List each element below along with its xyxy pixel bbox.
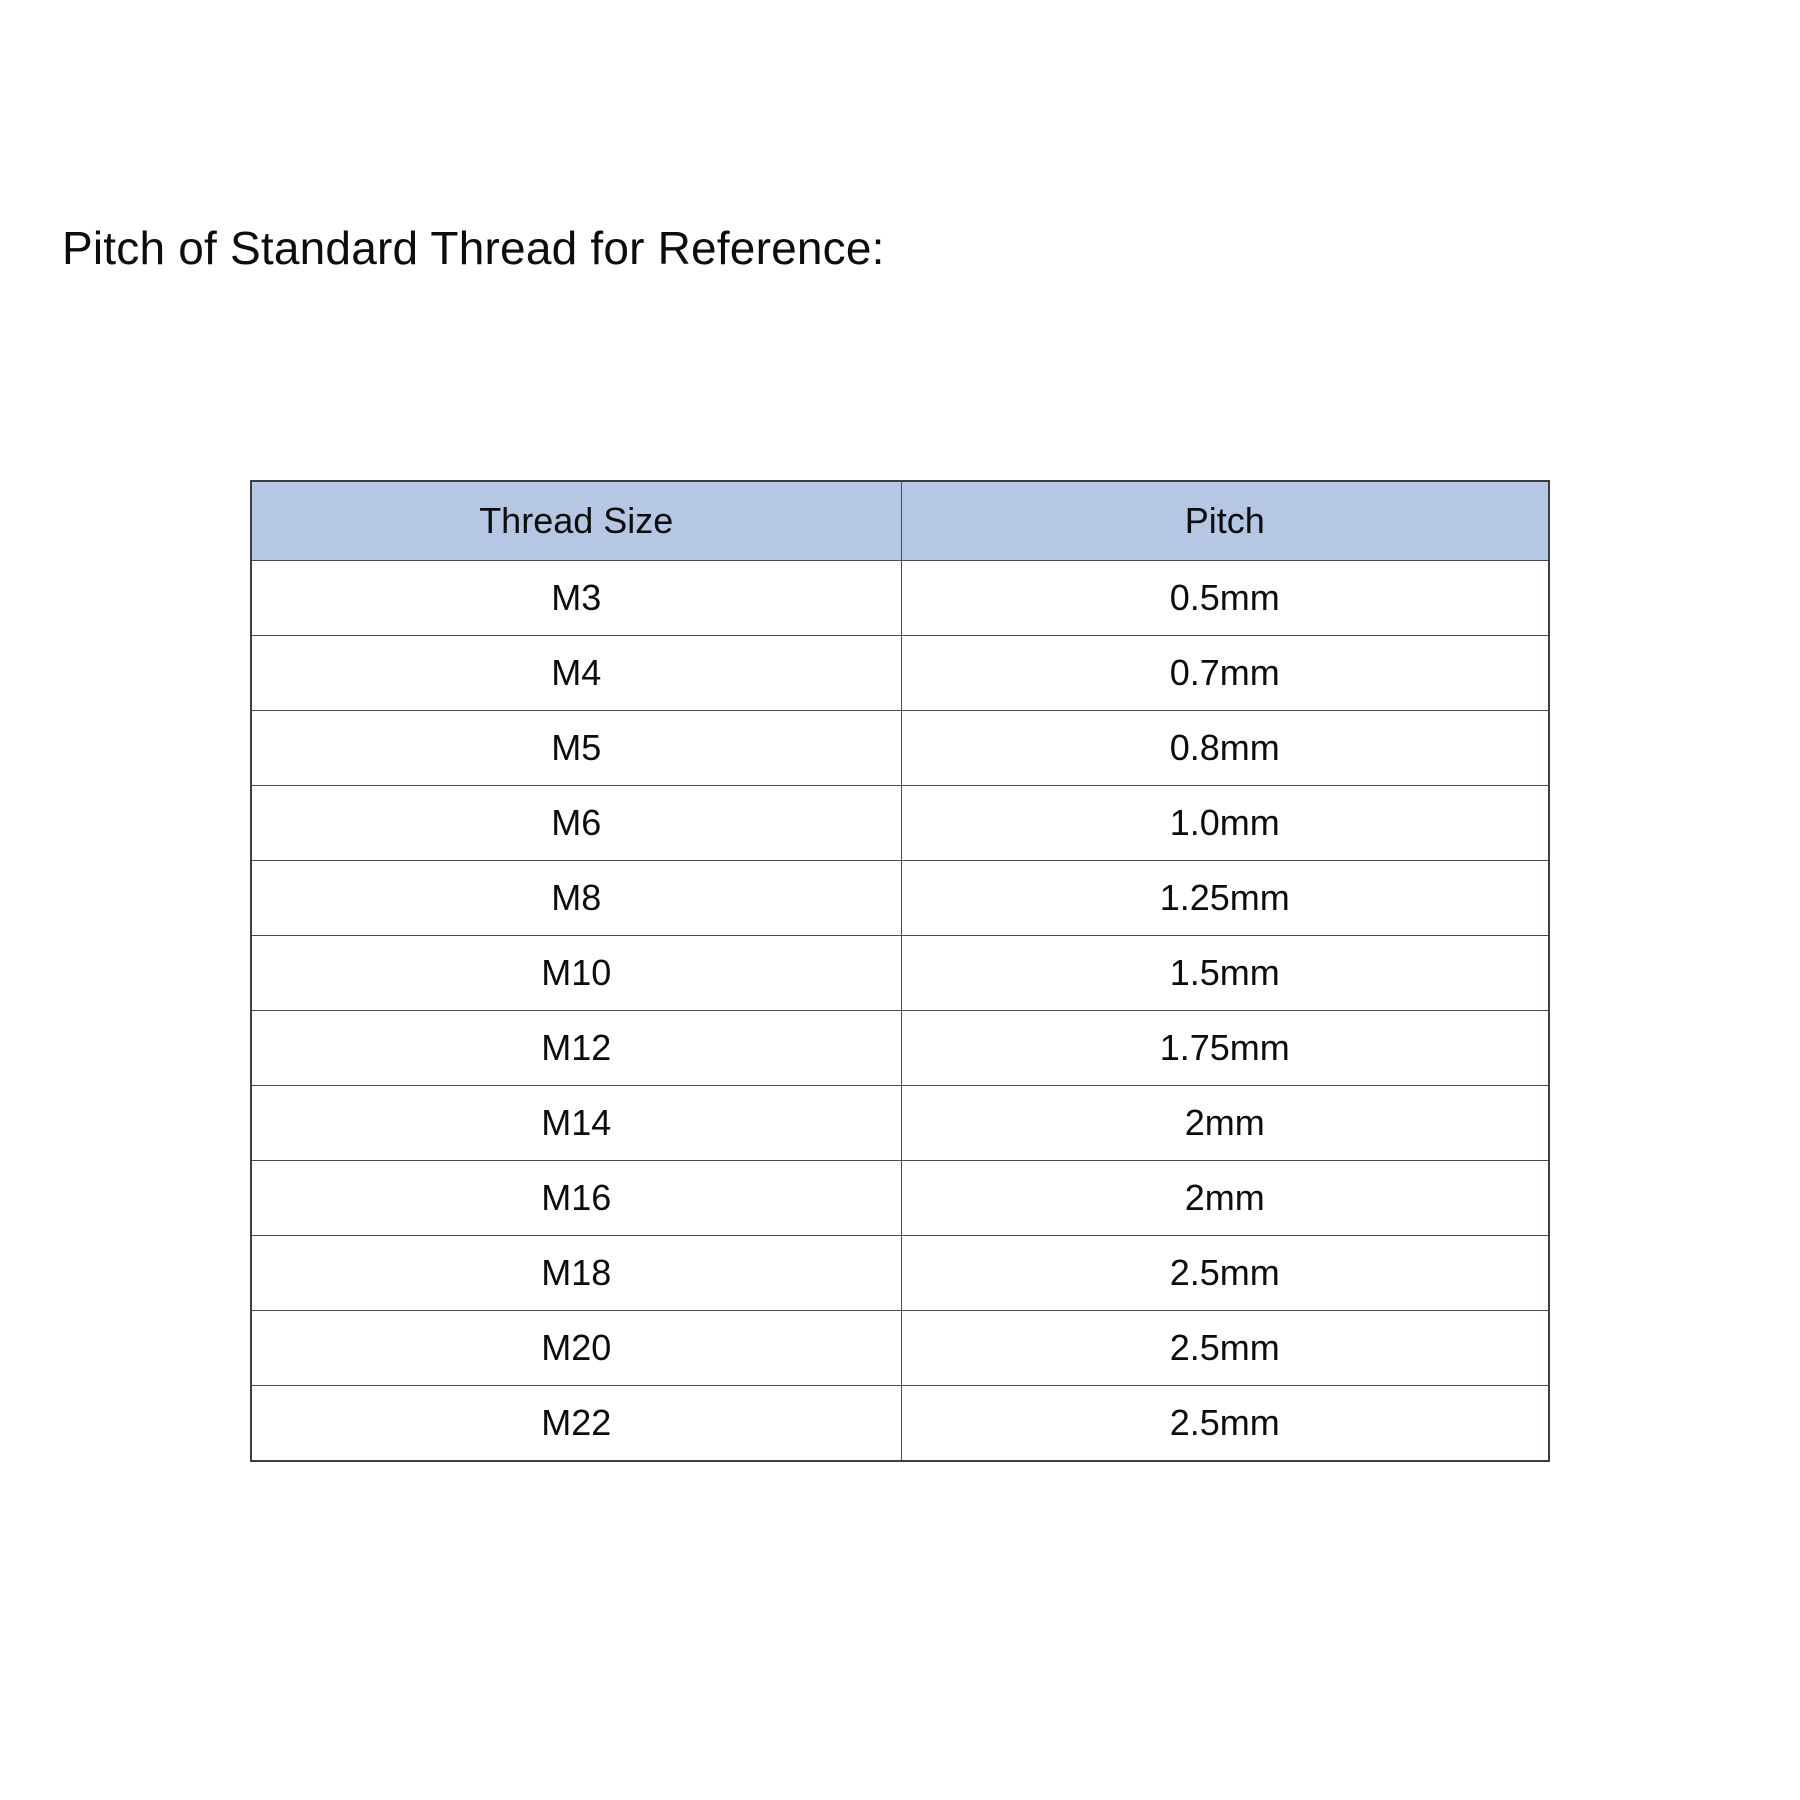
cell-pitch: 2.5mm [901, 1386, 1549, 1462]
cell-pitch: 1.75mm [901, 1011, 1549, 1086]
cell-thread-size: M16 [251, 1161, 901, 1236]
table-header: Thread Size Pitch [251, 481, 1549, 561]
cell-thread-size: M14 [251, 1086, 901, 1161]
cell-thread-size: M20 [251, 1311, 901, 1386]
cell-pitch: 1.5mm [901, 936, 1549, 1011]
table-row: M5 0.8mm [251, 711, 1549, 786]
table-row: M8 1.25mm [251, 861, 1549, 936]
column-header-thread-size: Thread Size [251, 481, 901, 561]
table-body: M3 0.5mm M4 0.7mm M5 0.8mm M6 1.0mm M8 [251, 561, 1549, 1462]
thread-pitch-table-container: Thread Size Pitch M3 0.5mm M4 0.7mm M5 0… [250, 480, 1548, 1462]
cell-pitch: 2mm [901, 1161, 1549, 1236]
cell-pitch: 2.5mm [901, 1311, 1549, 1386]
table-row: M4 0.7mm [251, 636, 1549, 711]
page-root: Pitch of Standard Thread for Reference: … [0, 0, 1800, 1800]
table-row: M20 2.5mm [251, 1311, 1549, 1386]
cell-pitch: 0.5mm [901, 561, 1549, 636]
cell-thread-size: M4 [251, 636, 901, 711]
table-row: M16 2mm [251, 1161, 1549, 1236]
column-header-pitch: Pitch [901, 481, 1549, 561]
cell-thread-size: M8 [251, 861, 901, 936]
cell-thread-size: M12 [251, 1011, 901, 1086]
cell-pitch: 1.25mm [901, 861, 1549, 936]
cell-thread-size: M22 [251, 1386, 901, 1462]
cell-pitch: 0.7mm [901, 636, 1549, 711]
table-row: M14 2mm [251, 1086, 1549, 1161]
cell-thread-size: M10 [251, 936, 901, 1011]
table-row: M6 1.0mm [251, 786, 1549, 861]
cell-thread-size: M5 [251, 711, 901, 786]
table-row: M3 0.5mm [251, 561, 1549, 636]
table-row: M12 1.75mm [251, 1011, 1549, 1086]
cell-thread-size: M3 [251, 561, 901, 636]
table-header-row: Thread Size Pitch [251, 481, 1549, 561]
page-title: Pitch of Standard Thread for Reference: [62, 218, 885, 278]
cell-pitch: 2.5mm [901, 1236, 1549, 1311]
table-row: M18 2.5mm [251, 1236, 1549, 1311]
cell-pitch: 0.8mm [901, 711, 1549, 786]
cell-thread-size: M6 [251, 786, 901, 861]
table-row: M10 1.5mm [251, 936, 1549, 1011]
cell-thread-size: M18 [251, 1236, 901, 1311]
cell-pitch: 2mm [901, 1086, 1549, 1161]
cell-pitch: 1.0mm [901, 786, 1549, 861]
table-row: M22 2.5mm [251, 1386, 1549, 1462]
thread-pitch-table: Thread Size Pitch M3 0.5mm M4 0.7mm M5 0… [250, 480, 1550, 1462]
